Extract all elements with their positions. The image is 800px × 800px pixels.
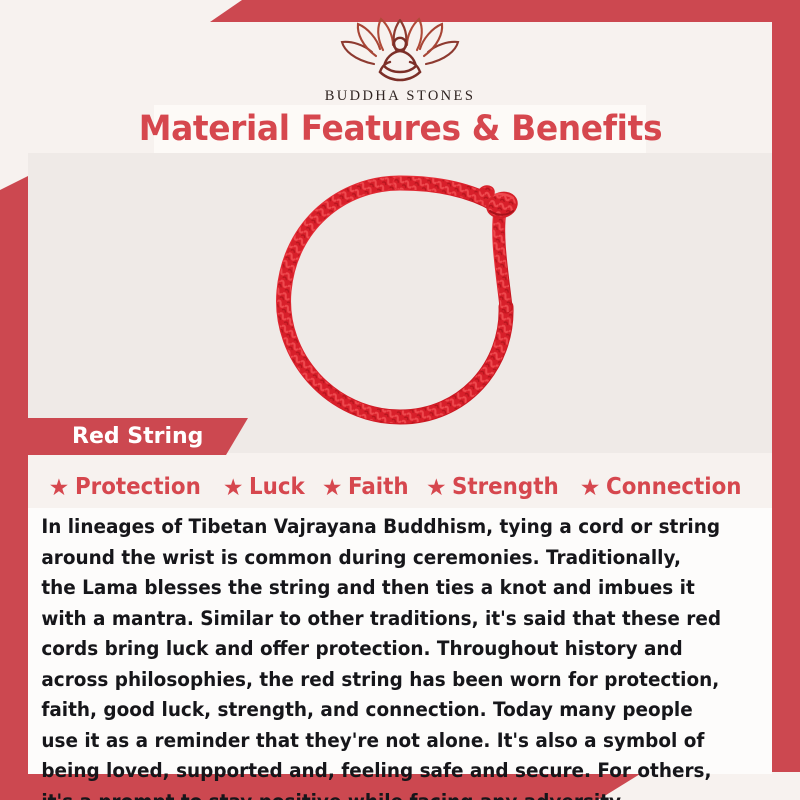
brand-name: BUDDHA STONES (0, 88, 800, 105)
red-string-bracelet-illustration (250, 167, 550, 439)
feature-item-connection: ★ Connection (580, 474, 752, 500)
feature-label: Strength (452, 474, 559, 500)
star-icon: ★ (426, 477, 447, 498)
product-label: Red String (72, 424, 203, 449)
feature-label: Protection (75, 474, 201, 500)
feature-label: Luck (249, 474, 305, 500)
star-icon: ★ (49, 477, 70, 498)
lotus-meditation-icon (330, 14, 470, 86)
feature-label: Connection (606, 474, 742, 500)
feature-item-strength: ★ Strength (426, 474, 567, 500)
feature-list: ★ Protection ★ Luck ★ Faith ★ Strength ★… (28, 466, 772, 508)
decorative-band-left (0, 176, 28, 800)
product-label-ribbon: Red String (0, 418, 248, 455)
title-banner: Material Features & Benefits (154, 105, 646, 153)
feature-item-luck: ★ Luck (223, 474, 309, 500)
star-icon: ★ (322, 477, 343, 498)
description-panel: In lineages of Tibetan Vajrayana Buddhis… (28, 508, 772, 774)
feature-item-faith: ★ Faith (322, 474, 413, 500)
feature-item-protection: ★ Protection (49, 474, 210, 500)
decorative-band-right (772, 0, 800, 772)
description-text: In lineages of Tibetan Vajrayana Buddhis… (28, 508, 739, 800)
feature-label: Faith (348, 474, 409, 500)
star-icon: ★ (580, 477, 601, 498)
page-title: Material Features & Benefits (138, 109, 661, 149)
star-icon: ★ (223, 477, 244, 498)
product-image (28, 153, 772, 453)
infographic-page: BUDDHA STONES Material Features & Benefi… (0, 0, 800, 800)
brand-header: BUDDHA STONES (0, 14, 800, 105)
